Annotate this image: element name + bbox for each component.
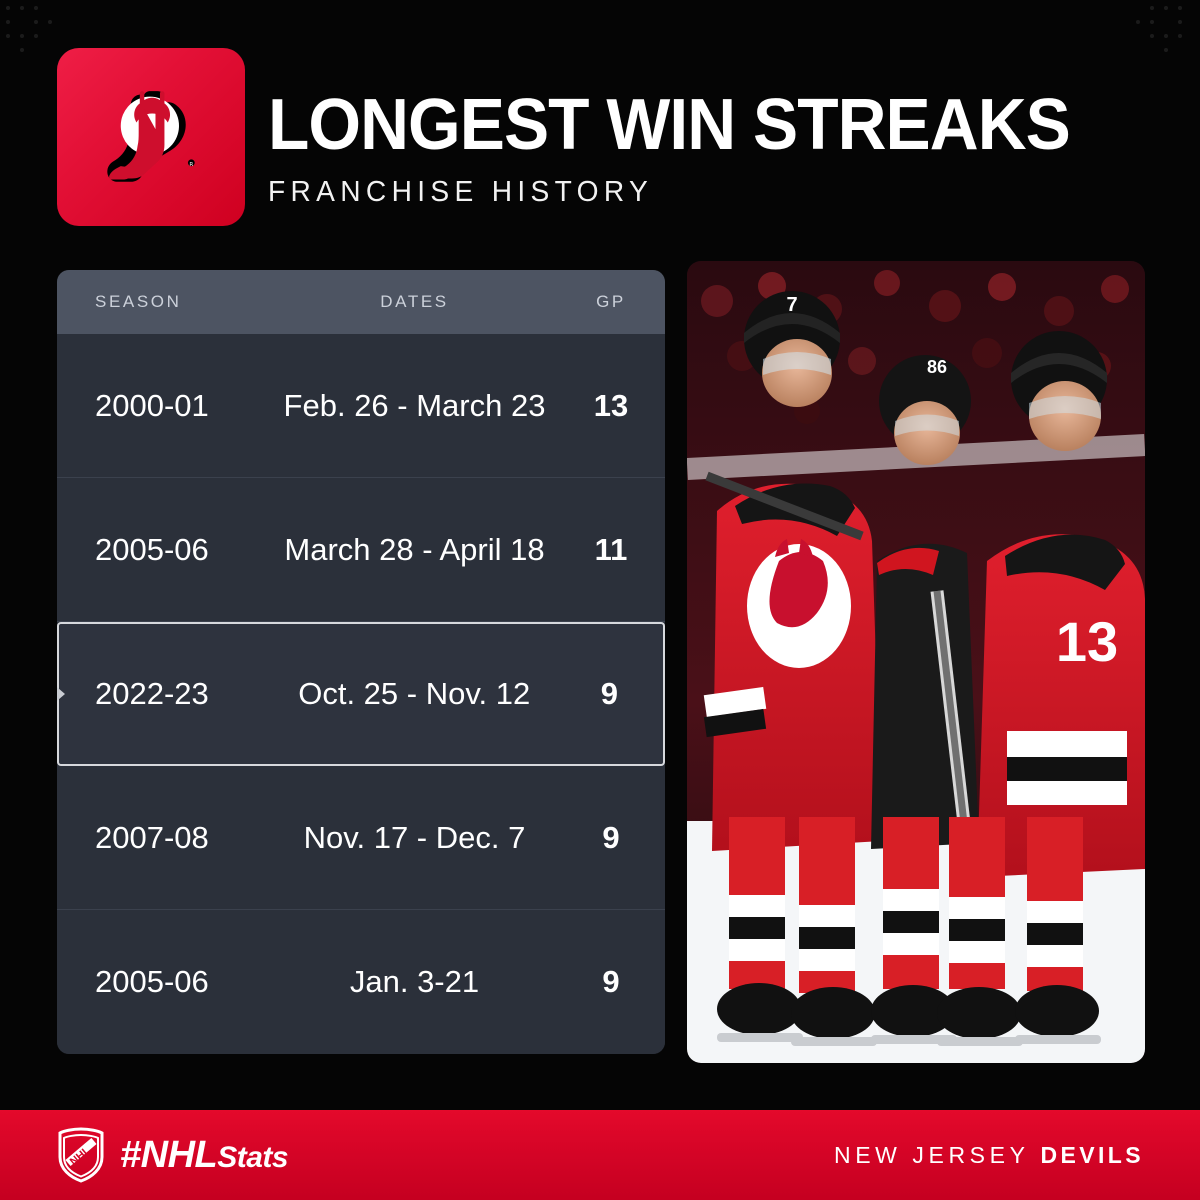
cell-season: 2005-06 — [57, 964, 272, 1000]
triangle-right-icon — [57, 681, 65, 707]
team-name-label: DEVILS — [1041, 1142, 1144, 1169]
column-header-season: SEASON — [57, 292, 272, 312]
cell-dates: Feb. 26 - March 23 — [272, 388, 557, 424]
page-title: LONGEST WIN STREAKS — [268, 92, 1070, 160]
footer-branding: NHL #NHLStats — [56, 1127, 288, 1183]
nhl-shield-icon: NHL — [56, 1127, 106, 1183]
header: R LONGEST WIN STREAKS FRANCHISE HISTORY — [0, 0, 1200, 250]
cell-dates: Oct. 25 - Nov. 12 — [273, 676, 556, 712]
table-row[interactable]: 2005-06March 28 - April 1811 — [57, 478, 665, 622]
cell-gp: 13 — [557, 388, 665, 424]
table-row[interactable]: 2005-06Jan. 3-219 — [57, 910, 665, 1054]
column-header-dates: DATES — [272, 292, 557, 312]
cell-gp: 11 — [557, 532, 665, 568]
cell-season: 2022-23 — [59, 676, 273, 712]
svg-text:R: R — [189, 162, 193, 168]
cell-dates: Nov. 17 - Dec. 7 — [272, 820, 557, 856]
streaks-table: SEASON DATES GP 2000-01Feb. 26 - March 2… — [57, 270, 665, 1054]
cell-gp: 9 — [556, 676, 663, 712]
nhl-stats-hashtag: #NHLStats — [120, 1134, 288, 1177]
page-subtitle: FRANCHISE HISTORY — [268, 176, 1095, 209]
team-name-footer: NEW JERSEY DEVILS — [834, 1142, 1144, 1169]
team-celebration-photo: 7 86 — [687, 261, 1145, 1063]
hashtag-main: #NHL — [120, 1134, 217, 1176]
column-header-gp: GP — [557, 292, 665, 312]
cell-gp: 9 — [557, 820, 665, 856]
svg-text:13: 13 — [1056, 610, 1118, 673]
team-logo-badge: R — [57, 48, 245, 226]
table-row[interactable]: 2007-08Nov. 17 - Dec. 79 — [57, 766, 665, 910]
cell-dates: Jan. 3-21 — [272, 964, 557, 1000]
table-header-row: SEASON DATES GP — [57, 270, 665, 334]
svg-text:7: 7 — [786, 294, 797, 316]
cell-gp: 9 — [557, 964, 665, 1000]
cell-season: 2000-01 — [57, 388, 272, 424]
table-row-highlighted[interactable]: 2022-23Oct. 25 - Nov. 129 — [57, 622, 665, 766]
table-body: 2000-01Feb. 26 - March 23132005-06March … — [57, 334, 665, 1054]
cell-dates: March 28 - April 18 — [272, 532, 557, 568]
table-row[interactable]: 2000-01Feb. 26 - March 2313 — [57, 334, 665, 478]
title-block: LONGEST WIN STREAKS FRANCHISE HISTORY — [268, 92, 1121, 209]
footer-bar: NHL #NHLStats NEW JERSEY DEVILS — [0, 1110, 1200, 1200]
cell-season: 2007-08 — [57, 820, 272, 856]
hashtag-sub: Stats — [217, 1141, 288, 1174]
cell-season: 2005-06 — [57, 532, 272, 568]
new-jersey-devils-logo-icon: R — [95, 81, 207, 193]
svg-text:86: 86 — [927, 357, 947, 377]
team-city-label: NEW JERSEY — [834, 1142, 1030, 1169]
